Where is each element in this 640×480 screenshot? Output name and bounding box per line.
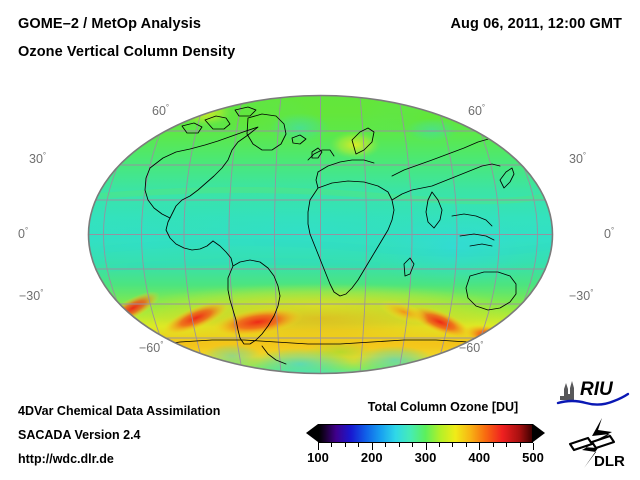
colorbar-minor-tick <box>439 443 440 447</box>
version-label: SACADA Version 2.4 <box>18 428 141 442</box>
colorbar-minor-tick <box>412 443 413 447</box>
colorbar-major-tick <box>479 443 480 450</box>
colorbar-major-tick <box>318 443 319 450</box>
lat-label-minus30-left: −30° <box>19 289 43 303</box>
colorbar-gradient <box>318 424 533 443</box>
colorbar-title: Total Column Ozone [DU] <box>333 400 553 414</box>
colorbar-minor-tick <box>506 443 507 447</box>
colorbar-tick-labels: 100200300400500 <box>318 450 533 470</box>
ozone-map: 60° 60° 30° 30° 0° 0° −30° −30° −60° −60… <box>0 0 640 400</box>
colorbar <box>318 424 533 443</box>
dlr-logo: DLR <box>562 414 636 472</box>
colorbar-major-tick <box>372 443 373 450</box>
website-url[interactable]: http://wdc.dlr.de <box>18 452 114 466</box>
cathedral-icon <box>560 381 574 400</box>
colorbar-extend-max-arrow <box>533 424 545 442</box>
figure-canvas: GOME–2 / MetOp Analysis Ozone Vertical C… <box>0 0 640 480</box>
lat-label-0-left: 0° <box>18 227 28 241</box>
colorbar-minor-tick <box>452 443 453 447</box>
mollweide-map-svg <box>0 0 640 400</box>
lat-label-60-right: 60° <box>468 104 485 118</box>
colorbar-major-tick <box>533 443 534 450</box>
lat-label-minus60-right: −60° <box>459 341 483 355</box>
dlr-wordmark: DLR <box>594 453 625 470</box>
colorbar-tick-label: 400 <box>468 450 490 465</box>
colorbar-tick-label: 300 <box>415 450 437 465</box>
colorbar-minor-tick <box>493 443 494 447</box>
lat-label-30-left: 30° <box>29 152 46 166</box>
lat-label-60-left: 60° <box>152 104 169 118</box>
lat-label-30-right: 30° <box>569 152 586 166</box>
riu-wordmark: RIU <box>580 379 614 400</box>
assimilation-label: 4DVar Chemical Data Assimilation <box>18 404 220 418</box>
colorbar-major-tick <box>426 443 427 450</box>
colorbar-minor-tick <box>399 443 400 447</box>
colorbar-minor-tick <box>331 443 332 447</box>
colorbar-minor-tick <box>466 443 467 447</box>
colorbar-tick-label: 100 <box>307 450 329 465</box>
colorbar-extend-min-arrow <box>306 424 318 442</box>
colorbar-minor-tick <box>358 443 359 447</box>
colorbar-tick-label: 500 <box>522 450 544 465</box>
riu-logo: RIU <box>556 378 636 410</box>
lat-label-minus30-right: −30° <box>569 289 593 303</box>
lat-label-0-right: 0° <box>604 227 614 241</box>
colorbar-tick-label: 200 <box>361 450 383 465</box>
colorbar-minor-tick <box>520 443 521 447</box>
lat-label-minus60-left: −60° <box>139 341 163 355</box>
colorbar-minor-tick <box>345 443 346 447</box>
colorbar-minor-tick <box>385 443 386 447</box>
ozone-field <box>80 92 560 380</box>
